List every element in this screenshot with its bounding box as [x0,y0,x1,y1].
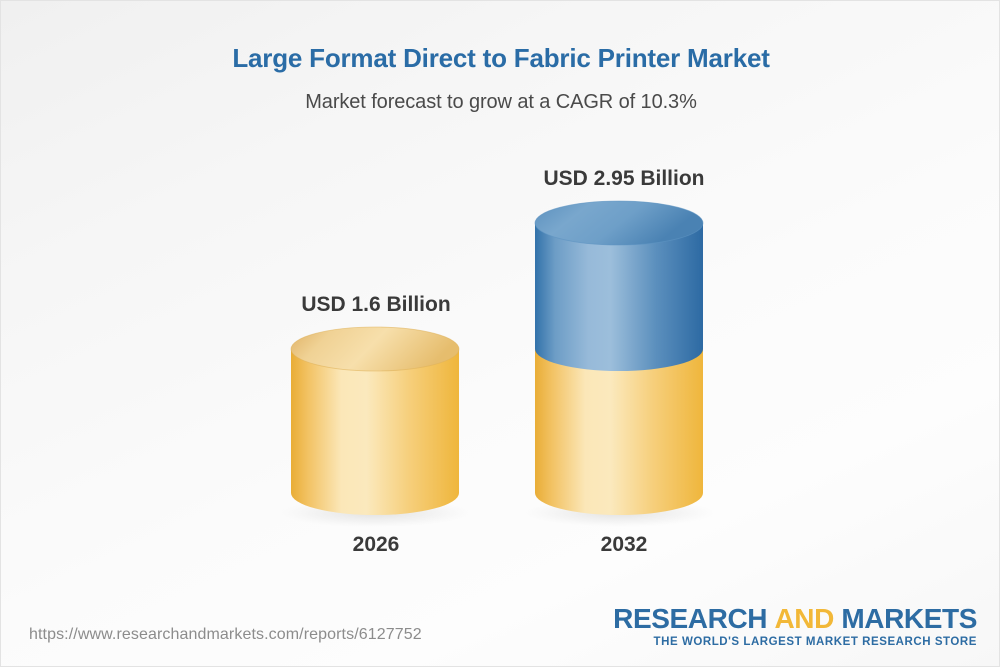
logo-word-research: RESEARCH [613,603,767,634]
logo-word-markets: MARKETS [841,603,977,634]
logo-word-and: AND [774,603,833,634]
value-label-2032: USD 2.95 Billion [494,167,754,191]
bar-cylinder-2026 [283,327,483,527]
brand-logo[interactable]: RESEARCH AND MARKETS THE WORLD'S LARGEST… [613,604,977,648]
category-label-2026: 2026 [246,533,506,557]
logo-tagline: THE WORLD'S LARGEST MARKET RESEARCH STOR… [613,636,977,648]
category-label-2032: 2032 [494,533,754,557]
chart-canvas: Large Format Direct to Fabric Printer Ma… [0,0,1000,667]
plot-area: USD 1.6 Billion [1,1,1000,601]
logo-wordmark: RESEARCH AND MARKETS [613,604,977,633]
bar-cylinder-2032 [527,199,727,529]
report-url[interactable]: https://www.researchandmarkets.com/repor… [29,626,422,644]
value-label-2026: USD 1.6 Billion [246,293,506,317]
